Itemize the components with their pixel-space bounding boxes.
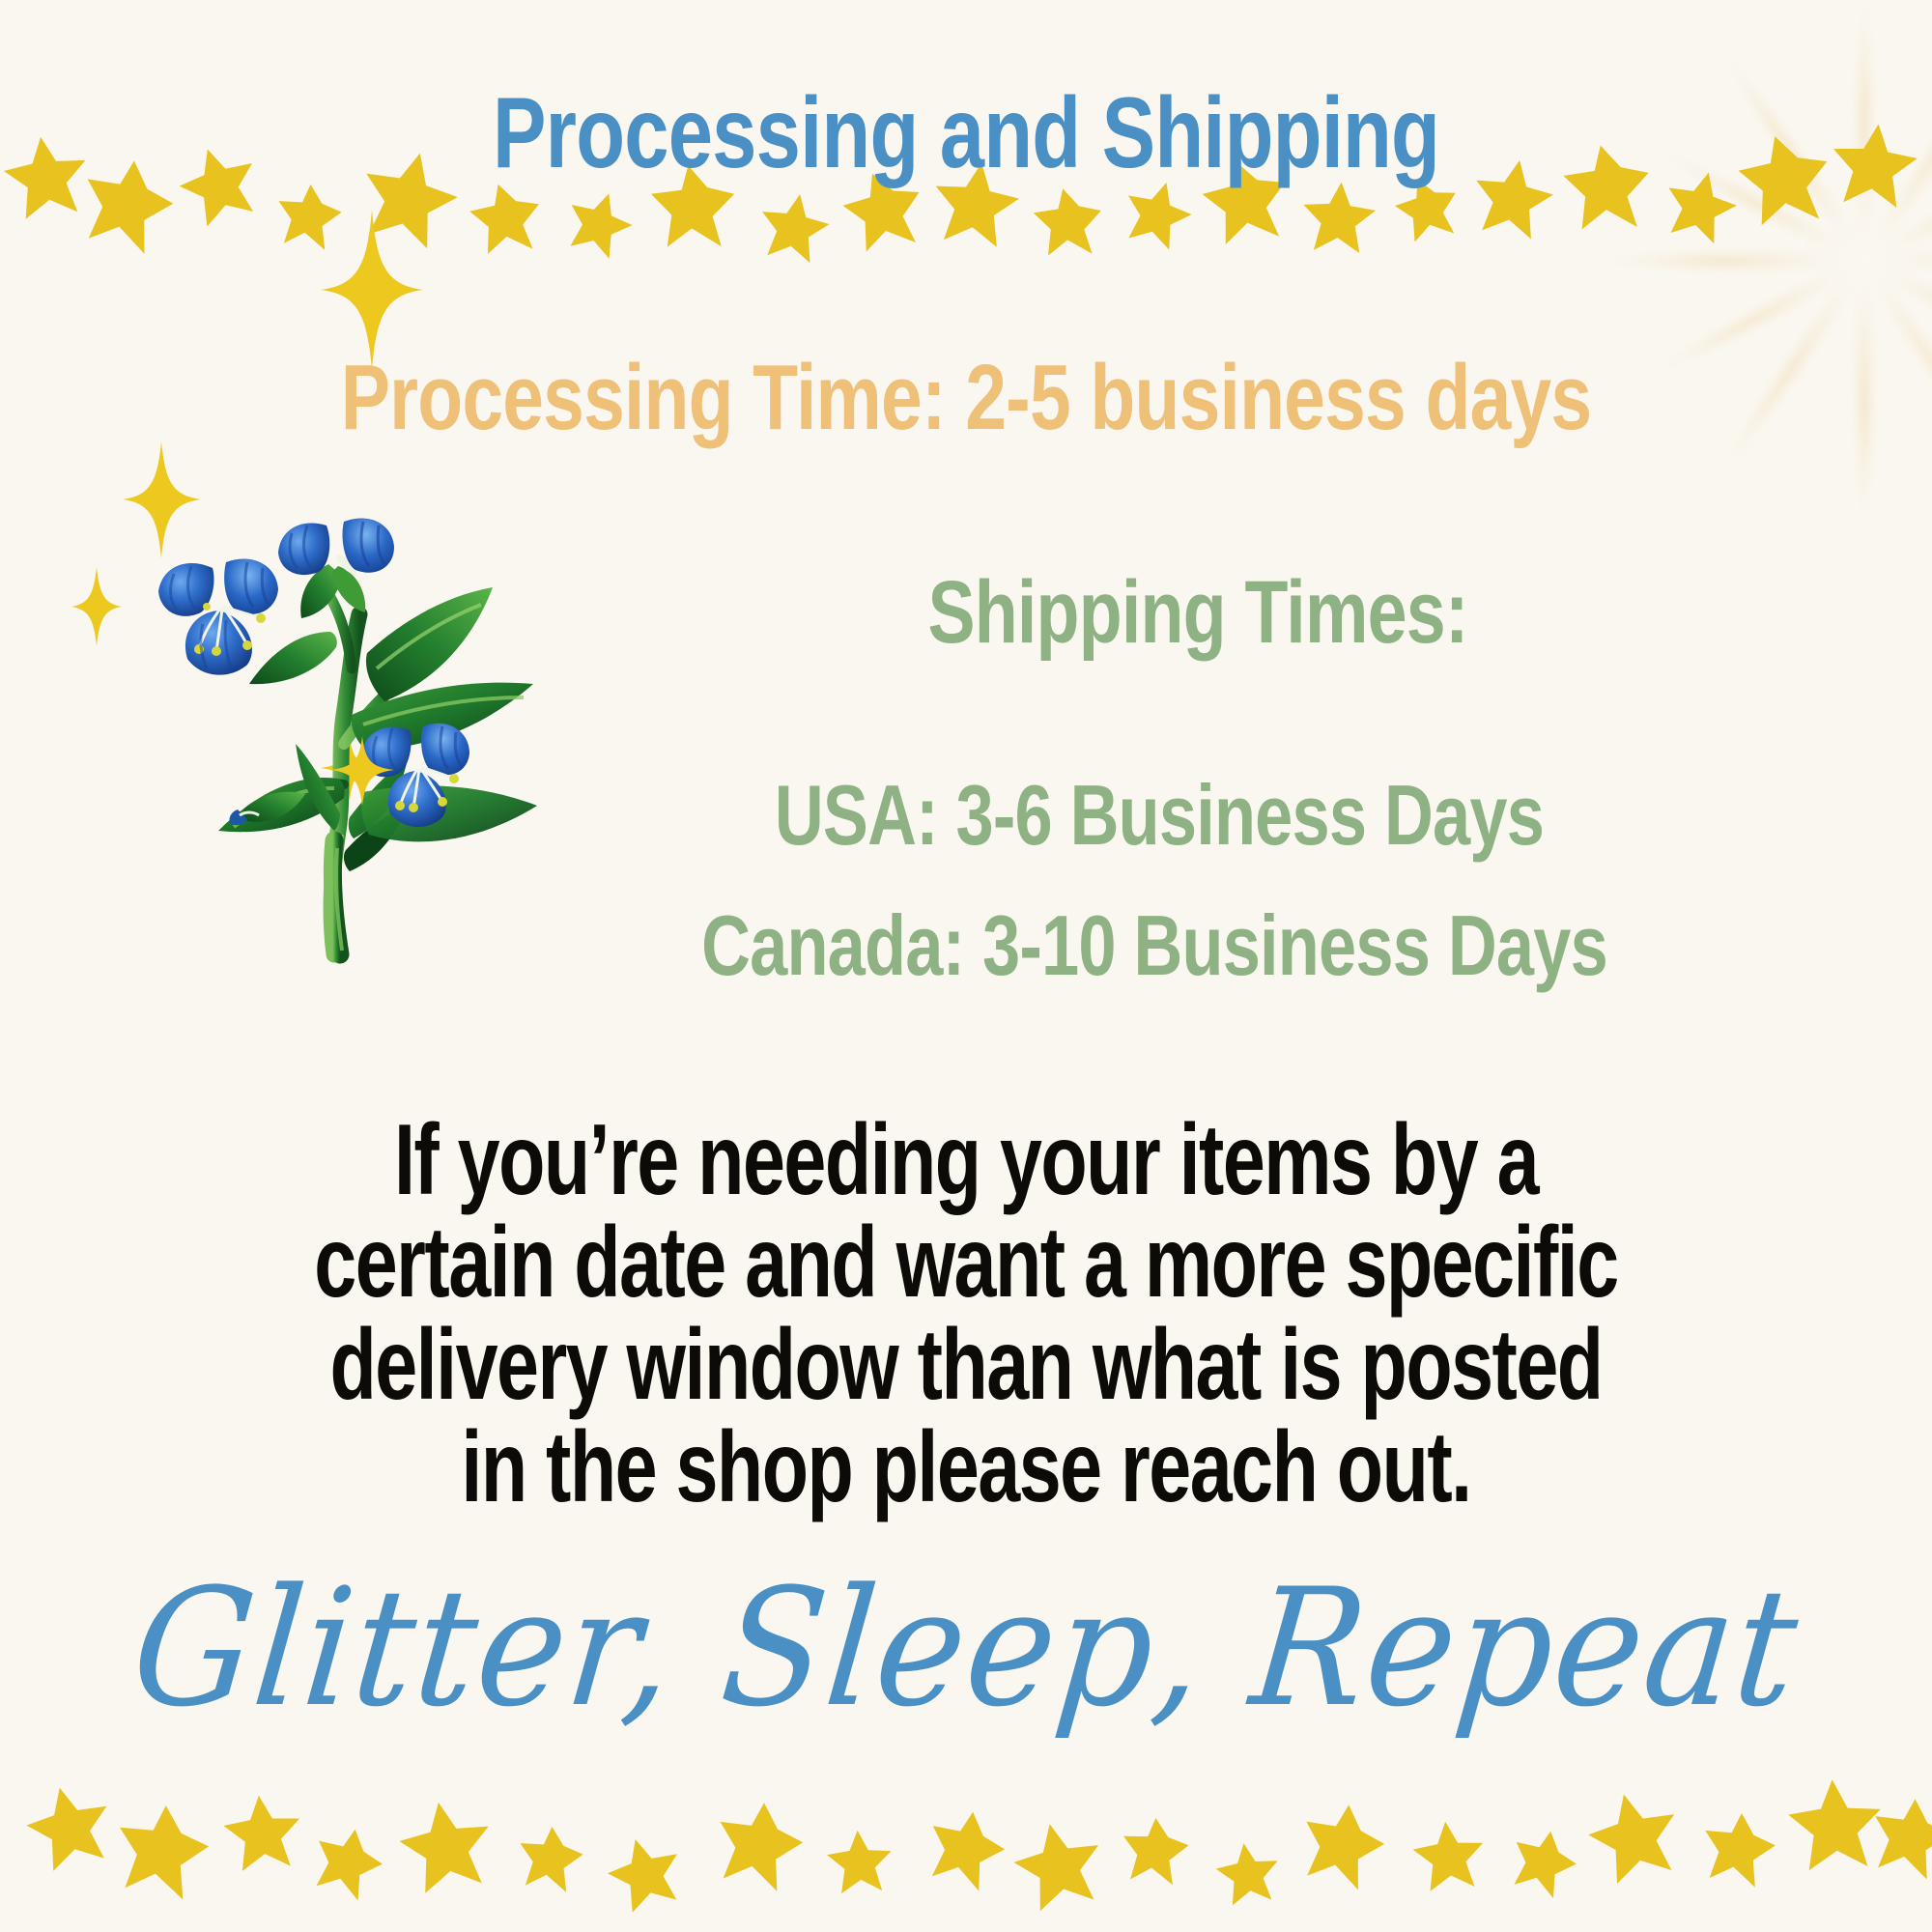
sparkle-diamond-icon xyxy=(328,734,396,808)
processing-time-line: Processing Time: 2-5 business days xyxy=(193,352,1739,444)
shipping-times-heading: Shipping Times: xyxy=(641,568,1754,657)
shipping-row-usa: USA: 3-6 Business Days xyxy=(580,773,1739,858)
star-border-bottom xyxy=(0,1777,1932,1932)
sparkle-diamond-icon xyxy=(319,734,381,802)
shipping-row-canada: Canada: 3-10 Business Days xyxy=(563,903,1746,988)
page-title: Processing and Shipping xyxy=(193,83,1739,184)
brand-signature: Glitter, Sleep, Repeat xyxy=(70,1567,1862,1729)
delivery-note: If you’re needing your items by a certai… xyxy=(298,1109,1634,1519)
sparkle-diamond-icon xyxy=(70,565,124,648)
sparkle-diamond-icon xyxy=(121,440,203,560)
blue-dayflower-illustration xyxy=(145,425,551,966)
shipping-info-graphic: Processing and Shipping Processing Time:… xyxy=(0,0,1932,1932)
